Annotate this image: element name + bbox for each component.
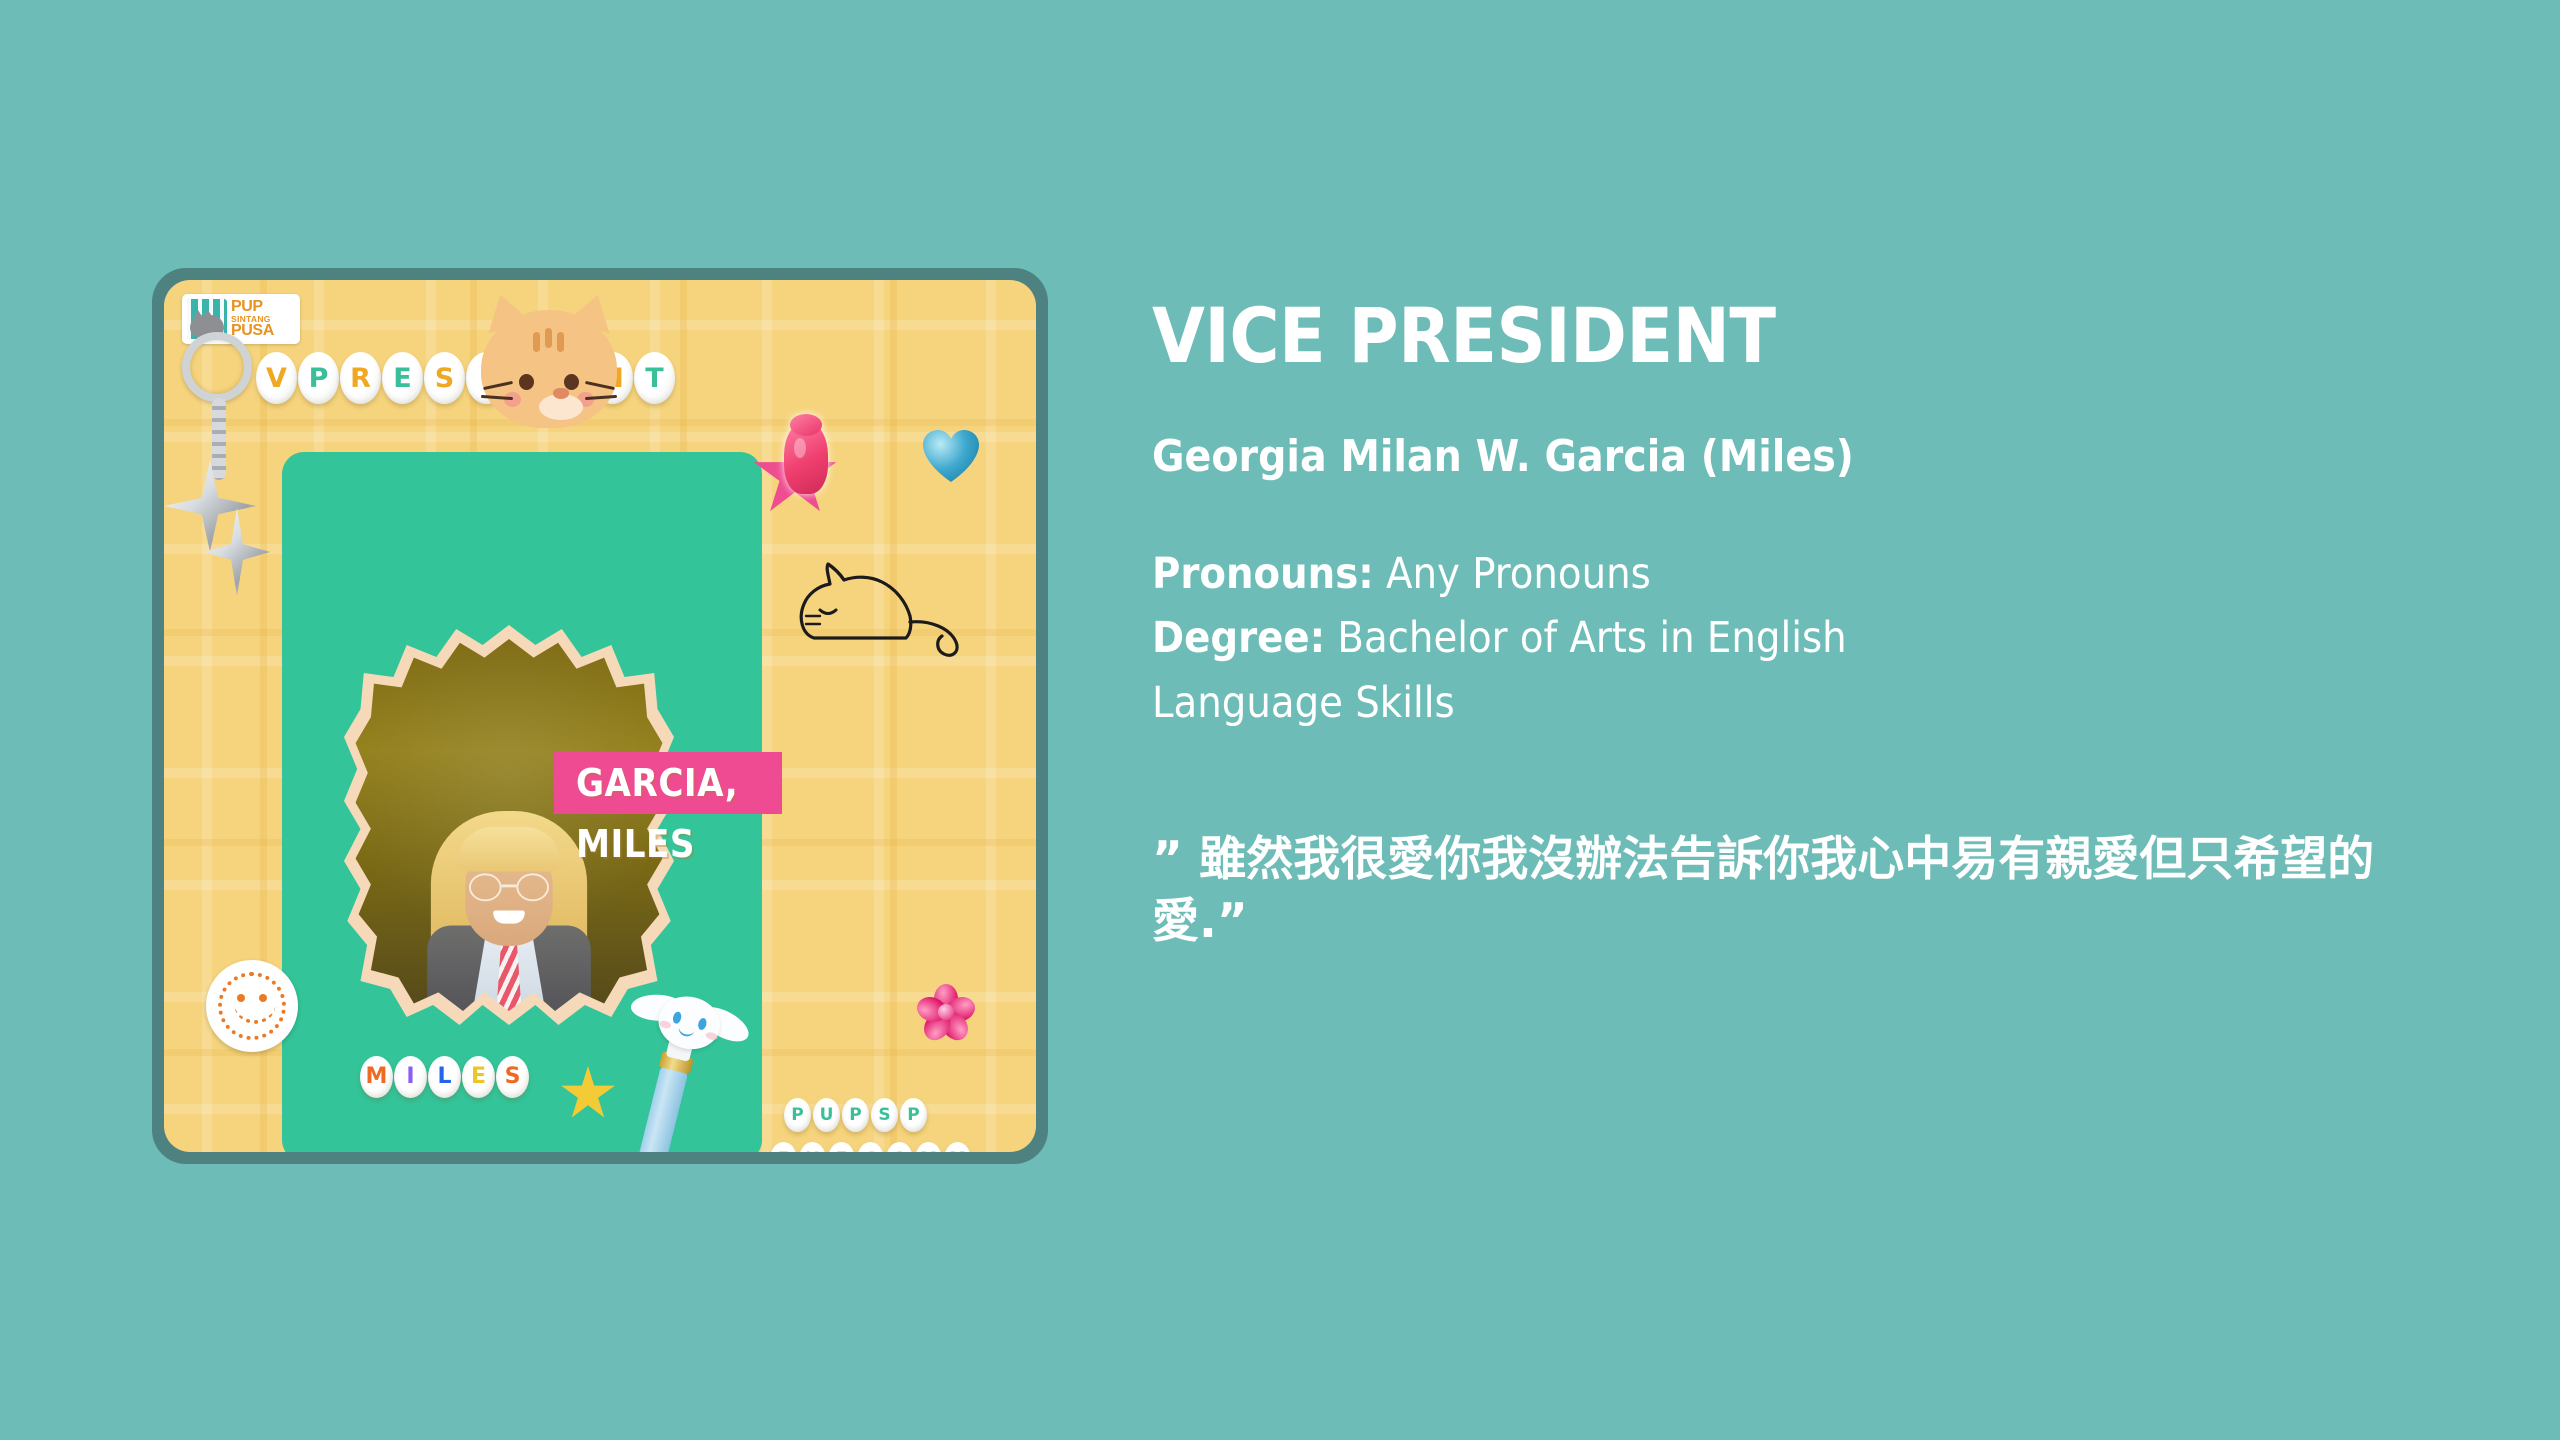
- officer-firstname-text: MILES: [576, 822, 695, 866]
- cat-stripe: [545, 328, 552, 348]
- cat-stripe: [533, 332, 540, 352]
- flower-center: [938, 1004, 954, 1020]
- officer-surname-text: GARCIA,: [576, 761, 738, 805]
- keyring-icon: [182, 332, 252, 402]
- bead-letter: M: [915, 1142, 942, 1152]
- bead-letter: P: [298, 352, 339, 404]
- officer-info-panel: VICE PRESIDENT Georgia Milan W. Garcia (…: [1152, 298, 2452, 953]
- bead-letter: T: [634, 352, 675, 404]
- cat-head: [481, 310, 617, 428]
- officer-full-name: Georgia Milan W. Garcia (Miles): [1152, 432, 2452, 483]
- bead-letter: S: [496, 1056, 529, 1098]
- bead-letter: C: [857, 1142, 884, 1152]
- portrait-glasses-icon: [469, 873, 549, 901]
- bead-letter: X: [799, 1142, 826, 1152]
- bead-letter: P: [900, 1098, 927, 1132]
- cat-eye-left: [519, 374, 534, 390]
- bead-letter: R: [340, 352, 381, 404]
- officer-quote: ” 雖然我很愛你我沒辦法告訴你我心中易有親愛但只希望的愛.”: [1152, 829, 2402, 953]
- smiley-eye-left: [237, 994, 245, 1002]
- glasses-lens-right: [516, 873, 549, 901]
- degree-label: Degree:: [1152, 613, 1325, 663]
- bead-letter: E: [770, 1142, 797, 1152]
- bead-letter: I: [394, 1056, 427, 1098]
- bead-letter: M: [360, 1056, 393, 1098]
- bead-letter: M: [944, 1142, 971, 1152]
- bead-letter: O: [886, 1142, 913, 1152]
- keychain-sticker-icon: [170, 332, 290, 632]
- gummy-bear-sticker-icon: [784, 422, 828, 494]
- bead-letter: L: [428, 1056, 461, 1098]
- sparkle-star-large: [164, 460, 256, 552]
- pink-flower-gem-icon: [916, 982, 976, 1042]
- cat-eye-right: [564, 374, 579, 390]
- officer-poster-card: PUP SINTANG PUSA VPRESIDENT: [152, 268, 1048, 1164]
- pronouns-label: Pronouns:: [1152, 549, 1374, 599]
- smiley-face-sticker-icon: [206, 960, 298, 1052]
- execomm-bead-row: EXECOMM: [770, 1142, 971, 1152]
- slide-canvas: PUP SINTANG PUSA VPRESIDENT: [0, 0, 2560, 1440]
- bead-letter: P: [784, 1098, 811, 1132]
- cat-whisker: [585, 381, 615, 390]
- smiley-outline: [218, 972, 286, 1040]
- pronouns-row: Pronouns: Any Pronouns: [1152, 549, 2452, 600]
- bead-letter: S: [424, 352, 465, 404]
- glasses-bridge: [502, 885, 517, 887]
- nickname-bead-row: MILES: [360, 1056, 529, 1098]
- position-title: VICE PRESIDENT: [1152, 298, 2452, 374]
- smiley-mouth: [234, 1002, 276, 1024]
- bead-letter: E: [382, 352, 423, 404]
- cat-whisker: [483, 381, 513, 390]
- officer-surname-banner: GARCIA,: [554, 752, 782, 814]
- poster-inner: PUP SINTANG PUSA VPRESIDENT: [164, 280, 1036, 1152]
- portrait-bangs: [457, 827, 561, 872]
- cat-nose: [553, 388, 569, 399]
- blue-heart-gem-icon: [922, 430, 980, 484]
- glasses-lens-left: [469, 873, 502, 901]
- pen-barrel: [618, 1065, 688, 1152]
- sleeping-cat-line-art-icon: [784, 542, 964, 660]
- logo-pup-text: PUP: [231, 299, 274, 315]
- bead-letter: E: [828, 1142, 855, 1152]
- pronouns-value: Any Pronouns: [1386, 549, 1651, 599]
- degree-value: Bachelor of Arts in English: [1337, 613, 1846, 663]
- degree-row: Degree: Bachelor of Arts in English: [1152, 613, 2452, 664]
- bead-letter: E: [462, 1056, 495, 1098]
- keychain-chain: [212, 398, 226, 480]
- degree-row-continued: Language Skills: [1152, 678, 2452, 729]
- org-bead-row: PUPSP: [784, 1098, 927, 1132]
- bead-letter: U: [813, 1098, 840, 1132]
- portrait-smile: [493, 911, 525, 924]
- smiley-eye-right: [259, 994, 267, 1002]
- bead-letter: S: [871, 1098, 898, 1132]
- cat-face-sticker-icon: [469, 292, 629, 444]
- cat-stripe: [557, 332, 564, 352]
- bead-letter: P: [842, 1098, 869, 1132]
